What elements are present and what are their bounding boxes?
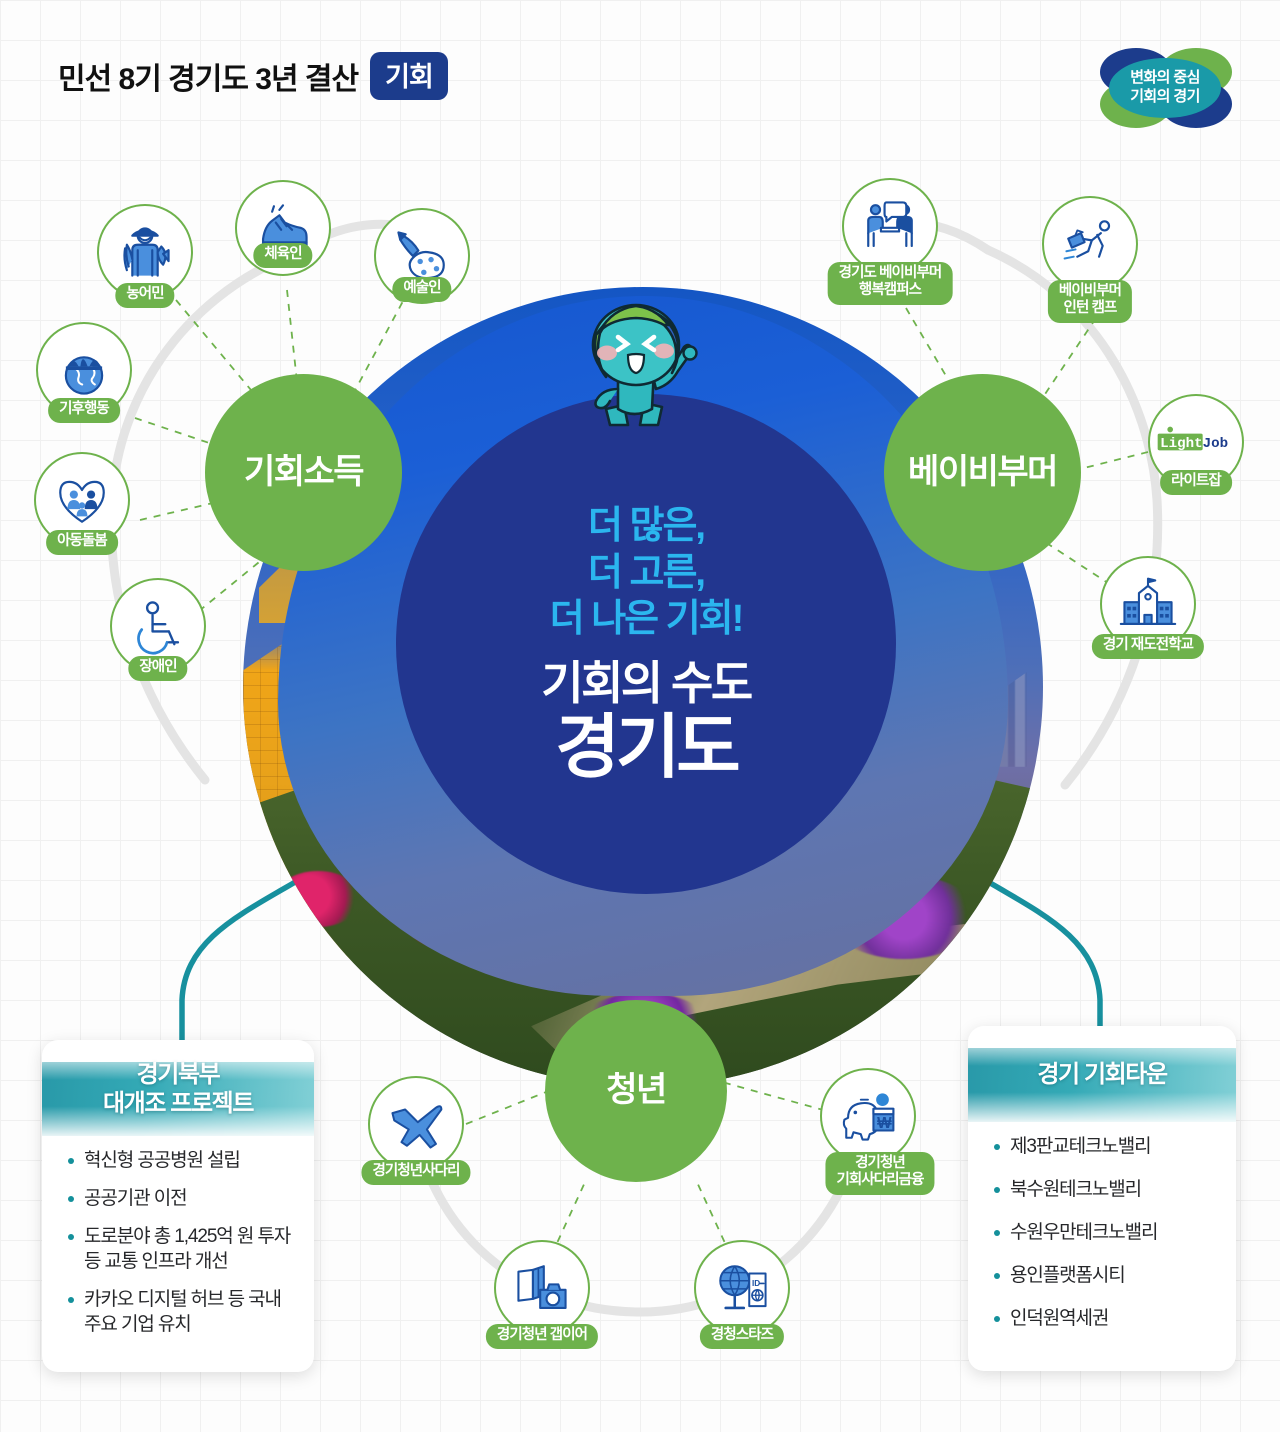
leaf-node-gapyear[interactable] [494,1240,590,1336]
list-item: 도로분야 총 1,425억 원 투자 등 교통 인프라 개선 [68,1224,292,1274]
list-item: 북수원테크노밸리 [994,1177,1214,1202]
leaf-node-happy-campus[interactable] [842,178,938,274]
climate-globe-icon [55,341,113,399]
leaf-label-intern-camp-2: 인턴 캠프 [1059,300,1121,317]
leaf-label-artist: 예술인 [392,277,451,302]
leaf-label-climate: 기후행동 [48,398,120,423]
list-item: 공공기관 이전 [68,1186,292,1211]
card-town-title-line1: 경기 기회타운 [1037,1060,1166,1089]
leaf-node-intern-camp[interactable] [1042,196,1138,292]
hub-label-income: 기회소득 [244,454,363,491]
hub-node-boomer[interactable]: 베이비부머 [884,374,1081,571]
brand-logo: 변화의 중심 기회의 경기 [1092,42,1238,134]
list-item: 카카오 디지털 허브 등 국내 주요 기업 유치 [68,1287,292,1337]
leaf-label-childcare: 아동돌봄 [46,530,118,555]
leaf-label-retry-school: 경기 재도전학교 [1092,634,1204,659]
hub-node-income[interactable]: 기회소득 [205,374,402,571]
book-camera-icon [513,1259,571,1317]
school-building-icon [1119,575,1177,633]
leaf-label-finance-2: 기회사다리금융 [836,1172,923,1189]
leaf-label-intern-camp: 베이비부머 인턴 캠프 [1048,280,1132,323]
hub-label-boomer: 베이비부머 [908,454,1057,491]
piggy-won-icon: ₩ [839,1087,897,1145]
list-item: 용인플랫폼시티 [994,1263,1214,1288]
card-north-title-line2: 대개조 프로젝트 [103,1089,253,1118]
leaf-label-lightjob: 라이트잡 [1160,470,1232,495]
card-north-header: 경기북부 대개조 프로젝트 [42,1040,314,1138]
list-item: 제3판교테크노밸리 [994,1134,1214,1159]
card-north-list: 혁신형 공공병원 설립 공공기관 이전 도로분야 총 1,425억 원 투자 등… [42,1138,314,1372]
list-item: 혁신형 공공병원 설립 [68,1148,292,1173]
leaf-label-ladder: 경기청년사다리 [361,1160,470,1185]
card-north-title-line1: 경기북부 [103,1060,253,1089]
svg-text:ID: ID [752,1279,760,1288]
svg-text:Light: Light [1160,436,1202,452]
leaf-label-happy-campus: 경기도 베이비부머 행복캠퍼스 [828,262,953,305]
mascot-character-icon [566,297,716,437]
farmer-fisher-icon [116,223,174,281]
leaf-label-finance: 경기청년 기회사다리금융 [825,1152,934,1195]
center-subtitle: 기회의 수도 [541,658,750,709]
running-briefcase-icon [1061,215,1119,273]
lightjob-logo-icon: Light Job [1156,422,1236,462]
center-navy-circle: 더 많은, 더 고른, 더 나은 기회! 기회의 수도 경기도 [396,394,896,894]
center-maintitle: 경기도 [555,711,736,785]
center-tagline-line1: 더 많은, [550,503,743,549]
list-item: 인덕원역세권 [994,1306,1214,1331]
leaf-label-athlete: 체육인 [253,243,312,268]
card-opportunity-town[interactable]: 경기 기회타운 제3판교테크노밸리 북수원테크노밸리 수원우만테크노밸리 용인플… [968,1026,1236,1371]
globe-id-icon: ID [713,1259,771,1317]
hub-node-youth[interactable]: 청년 [545,1000,727,1182]
leaf-label-gapyear: 경기청년 갭이어 [486,1324,598,1349]
card-town-header: 경기 기회타운 [968,1026,1236,1124]
leaf-node-finance[interactable]: ₩ [820,1068,916,1164]
leaf-label-finance-1: 경기청년 [836,1155,923,1172]
list-item: 수원우만테크노밸리 [994,1220,1214,1245]
svg-text:₩: ₩ [877,1115,892,1132]
leaf-node-ladder[interactable] [368,1076,464,1172]
card-town-title: 경기 기회타운 [968,1026,1236,1124]
card-north-project[interactable]: 경기북부 대개조 프로젝트 혁신형 공공병원 설립 공공기관 이전 도로분야 총… [42,1040,314,1372]
airplane-icon [387,1095,445,1153]
svg-text:Job: Job [1203,436,1229,452]
family-heart-icon [53,471,111,529]
leaf-label-intern-camp-1: 베이비부머 [1059,283,1121,300]
infographic-canvas: 민선 8기 경기도 3년 결산 기회 변화의 중심 기회의 경기 [0,0,1280,1432]
leaf-label-disabled: 장애인 [128,656,187,681]
center-tagline: 더 많은, 더 고른, 더 나은 기회! [550,503,743,642]
wheelchair-icon [129,597,187,655]
brand-logo-text: 변화의 중심 기회의 경기 [1092,42,1238,134]
leaf-label-gcstars: 경청스타즈 [700,1324,784,1349]
leaf-label-happy-campus-2: 행복캠퍼스 [839,282,942,299]
leaf-label-happy-campus-1: 경기도 베이비부머 [839,265,942,282]
hub-label-youth: 청년 [606,1072,666,1109]
center-tagline-line2: 더 고른, [550,550,743,596]
brand-logo-line2: 기회의 경기 [1130,88,1200,107]
leaf-node-gcstars[interactable]: ID [694,1240,790,1336]
brand-logo-line1: 변화의 중심 [1130,69,1200,88]
center-tagline-line3: 더 나은 기회! [550,596,743,642]
card-north-title: 경기북부 대개조 프로젝트 [42,1040,314,1138]
leaf-label-farmer: 농어민 [115,283,174,308]
card-town-list: 제3판교테크노밸리 북수원테크노밸리 수원우만테크노밸리 용인플랫폼시티 인덕원… [968,1124,1236,1371]
interview-table-icon [861,197,919,255]
